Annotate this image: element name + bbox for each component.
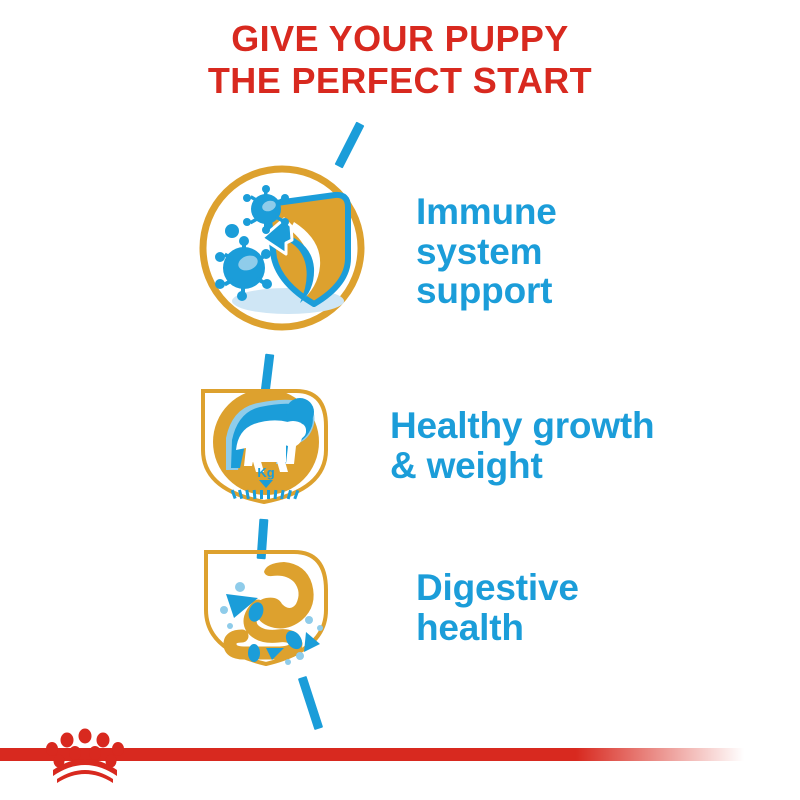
headline-line-1: GIVE YOUR PUPPY xyxy=(0,18,800,60)
stomach-intestine-icon xyxy=(196,540,338,675)
puppy-weight-scale-icon: Kg xyxy=(196,378,338,513)
promo-banner: GIVE YOUR PUPPY THE PERFECT START xyxy=(0,0,800,800)
headline-line-2: THE PERFECT START xyxy=(0,60,800,102)
scale-kg-label: Kg xyxy=(257,465,274,480)
benefit-item-immune-system-support: Immune system support xyxy=(196,162,557,339)
benefit-label-digestive-health: Digestive health xyxy=(416,568,579,648)
benefit-item-digestive-health: Digestive health xyxy=(196,540,579,675)
benefit-label-immune-system-support: Immune system support xyxy=(416,192,557,312)
benefit-item-healthy-growth-weight: Kg Healthy growth & weight xyxy=(196,378,654,513)
benefit-label-healthy-growth-weight: Healthy growth & weight xyxy=(390,406,654,486)
connector-dash-bottom xyxy=(298,676,323,730)
page-title: GIVE YOUR PUPPY THE PERFECT START xyxy=(0,18,800,102)
shield-virus-icon xyxy=(196,162,368,339)
royal-canin-crown-logo xyxy=(45,726,125,784)
